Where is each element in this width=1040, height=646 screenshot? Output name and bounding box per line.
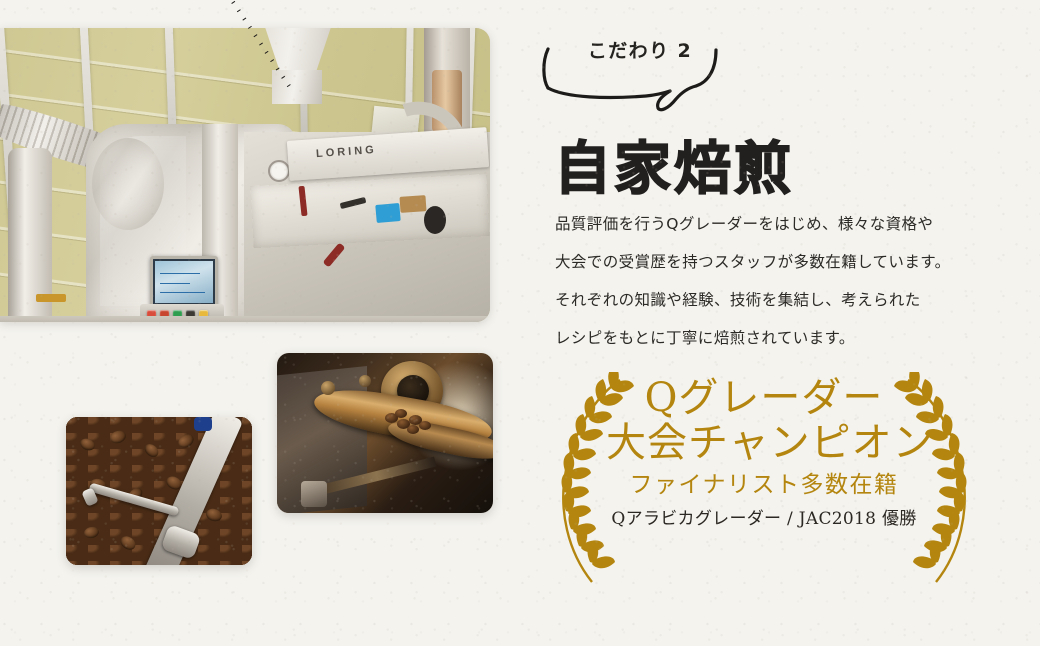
body-copy: 品質評価を行うQグレーダーをはじめ、様々な資格や 大会での受賞歴を持つスタッフが… — [555, 205, 1025, 357]
drum-end-cap — [92, 138, 164, 230]
bolt-head — [321, 381, 335, 395]
kodawari-badge-label: こだわり 2 — [570, 42, 710, 61]
body-line-3: それぞれの知識や経験、技術を集結し、考えられた — [555, 281, 1025, 319]
blue-accent — [194, 417, 212, 431]
trier-bean — [419, 421, 431, 430]
control-panel-display — [150, 256, 218, 308]
page-title: 自家焙煎 — [554, 141, 794, 198]
lcd-trace — [160, 273, 200, 274]
tool-black-knob — [424, 206, 446, 234]
award-emblem: Qグレーダー 大会チャンピオン ファイナリスト多数在籍 Qアラビカグレーダー /… — [544, 372, 984, 592]
tool-blue — [375, 203, 400, 223]
award-line-1: Qグレーダー — [606, 378, 922, 420]
body-line-1: 品質評価を行うQグレーダーをはじめ、様々な資格や — [555, 205, 1025, 243]
award-line-2: 大会チャンピオン — [606, 422, 922, 465]
trier-photo-artwork — [277, 353, 493, 513]
award-line-4: Qアラビカグレーダー / JAC2018 優勝 — [606, 508, 922, 530]
tool-tan — [399, 195, 426, 213]
gas-valve — [36, 294, 66, 302]
bracket — [301, 481, 327, 507]
award-line-3: ファイナリスト多数在籍 — [606, 471, 922, 500]
content-column: こだわり 2 自家焙煎 品質評価を行うQグレーダーをはじめ、様々な資格や 大会で… — [528, 0, 1028, 646]
roaster-shelf — [251, 174, 490, 248]
floor-bench — [0, 316, 490, 322]
beans-photo-artwork — [66, 417, 252, 565]
bolt-head — [359, 375, 371, 387]
body-line-2: 大会での受賞歴を持つスタッフが多数在籍しています。 — [555, 243, 1025, 281]
lcd-trace — [160, 283, 190, 284]
kodawari-badge: こだわり 2 — [536, 36, 736, 114]
pressure-gauge — [268, 160, 290, 182]
award-text-block: Qグレーダー 大会チャンピオン ファイナリスト多数在籍 Qアラビカグレーダー /… — [606, 378, 922, 530]
body-line-4: レシピをもとに丁寧に焙煎されています。 — [555, 319, 1025, 357]
photo-roasted-beans — [66, 417, 252, 565]
photo-sample-trier — [277, 353, 493, 513]
lcd-screen — [155, 261, 213, 303]
trier-bean — [395, 409, 407, 418]
trier-bean — [407, 425, 419, 434]
page-root: LORING — [0, 0, 1040, 646]
dotted-connector-line — [225, 0, 305, 101]
lcd-trace — [160, 292, 205, 293]
